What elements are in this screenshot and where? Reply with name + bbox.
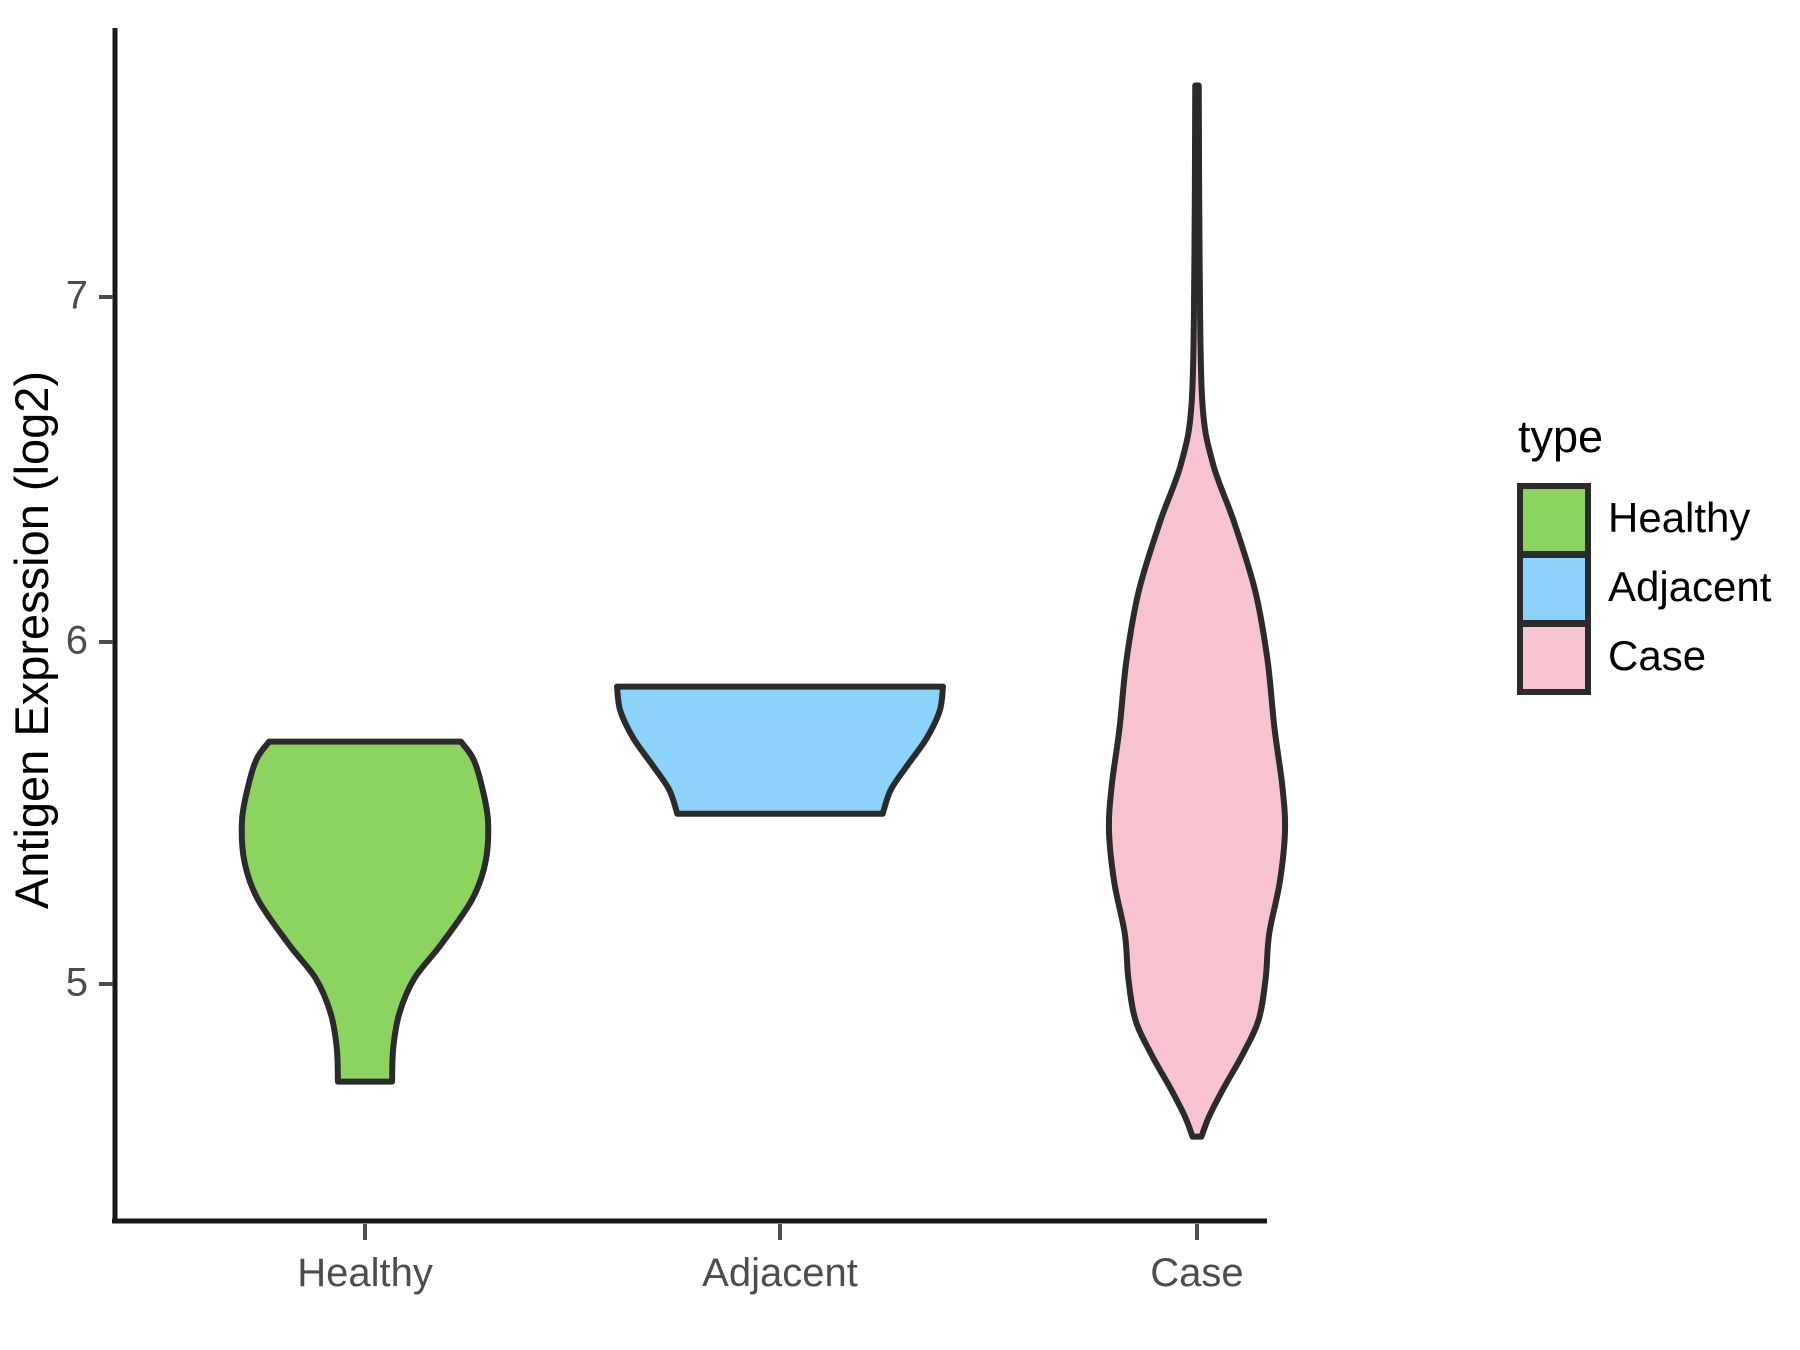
legend-label-healthy: Healthy (1608, 494, 1750, 541)
legend-title: type (1518, 411, 1603, 462)
y-tick-label-5: 5 (66, 961, 88, 1005)
x-tick-label-healthy: Healthy (297, 1251, 433, 1295)
x-tick-label-case: Case (1150, 1251, 1243, 1295)
legend-swatch-healthy (1520, 486, 1588, 554)
violin-plot-figure: Antigen Expression (log2) 7 6 5 Healthy … (0, 0, 1800, 1350)
legend-label-adjacent: Adjacent (1608, 563, 1772, 610)
legend-label-case: Case (1608, 632, 1706, 679)
legend-swatch-case (1520, 624, 1588, 692)
y-axis-title: Antigen Expression (log2) (5, 371, 58, 909)
y-tick-label-7: 7 (66, 274, 88, 318)
legend-swatch-adjacent (1520, 555, 1588, 623)
chart-canvas: Antigen Expression (log2) 7 6 5 Healthy … (0, 0, 1800, 1350)
x-tick-label-adjacent: Adjacent (702, 1251, 858, 1295)
y-tick-label-6: 6 (66, 619, 88, 663)
